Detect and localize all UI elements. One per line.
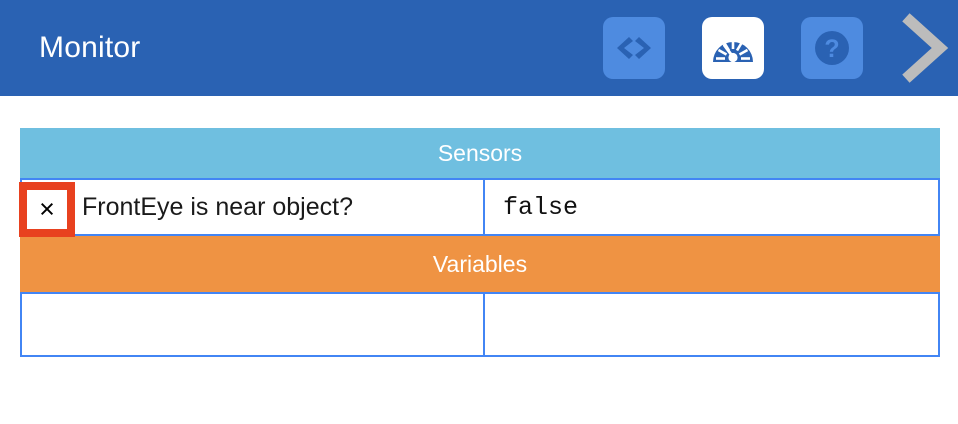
gauge-icon	[711, 31, 755, 65]
close-icon: ×	[39, 196, 55, 223]
sensor-name-label: FrontEye is near object?	[82, 193, 353, 222]
sensor-name-cell[interactable]: FrontEye is near object?	[20, 178, 483, 236]
sensor-value-cell: false	[483, 178, 940, 236]
question-mark-icon: ?	[812, 28, 852, 68]
sensors-section-title: Sensors	[438, 140, 522, 167]
variable-name-cell[interactable]	[20, 292, 483, 357]
variables-section-title: Variables	[433, 251, 527, 278]
app-header: Monitor	[0, 0, 958, 96]
variables-section-header: Variables	[20, 236, 940, 292]
sensors-section-header: Sensors	[20, 128, 940, 178]
monitor-table: Sensors FrontEye is near object? false V…	[20, 128, 940, 357]
monitor-view-button[interactable]	[702, 17, 764, 79]
table-row	[20, 292, 940, 357]
code-view-button[interactable]	[603, 17, 665, 79]
remove-sensor-button[interactable]: ×	[19, 182, 75, 237]
variable-value-cell	[483, 292, 940, 357]
chevron-right-icon	[900, 13, 954, 83]
next-page-button[interactable]	[900, 13, 954, 83]
header-actions: ?	[603, 0, 958, 96]
svg-text:?: ?	[824, 35, 839, 63]
table-row: FrontEye is near object? false	[20, 178, 940, 236]
code-icon	[616, 35, 652, 61]
page-title: Monitor	[39, 31, 140, 65]
help-button[interactable]: ?	[801, 17, 863, 79]
sensor-value-text: false	[503, 193, 578, 222]
